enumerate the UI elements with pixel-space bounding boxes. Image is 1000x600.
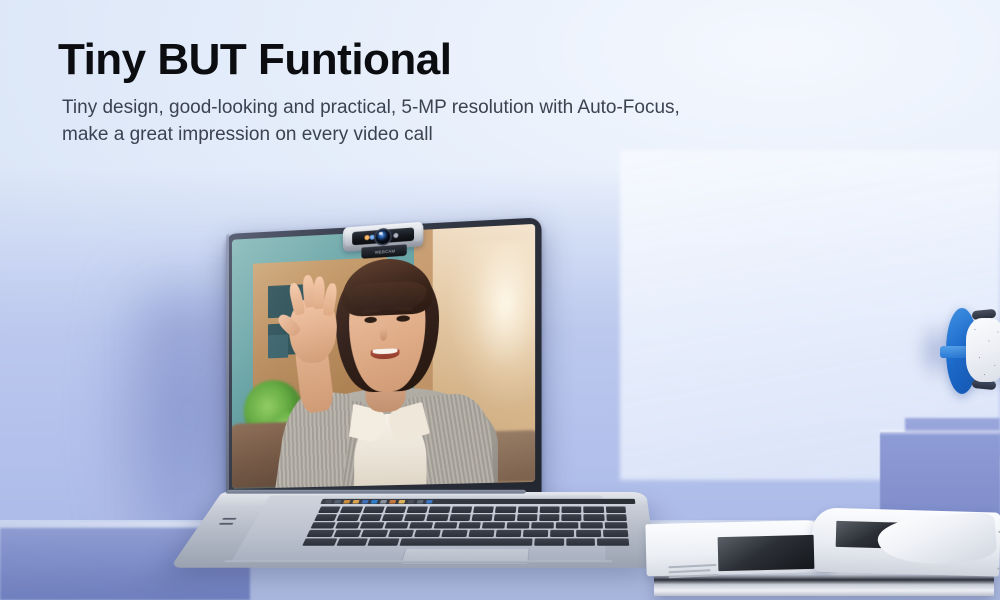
key[interactable] <box>359 514 382 521</box>
touch-bar-item[interactable] <box>407 500 414 503</box>
shelf-highlight <box>880 430 1000 434</box>
key[interactable] <box>562 506 582 512</box>
key[interactable] <box>531 522 554 529</box>
eye-right <box>397 315 410 322</box>
key-row <box>310 522 627 529</box>
base-front-lip <box>223 560 613 563</box>
key[interactable] <box>384 522 409 529</box>
key[interactable] <box>603 530 628 537</box>
text-block: Tiny BUT Funtional Tiny design, good-loo… <box>58 38 938 149</box>
key[interactable] <box>340 506 363 512</box>
key[interactable] <box>368 538 399 545</box>
text-line <box>669 569 711 573</box>
key-row <box>318 506 626 512</box>
key[interactable] <box>336 538 368 545</box>
wall-mounted-speaker <box>940 308 1000 394</box>
key-row <box>314 514 627 521</box>
lid-edge-highlight <box>226 234 229 506</box>
touch-bar-item[interactable] <box>417 500 424 503</box>
touch-bar-item[interactable] <box>334 500 342 503</box>
subtitle-line-1: Tiny design, good-looking and practical,… <box>62 97 680 118</box>
key[interactable] <box>581 522 604 529</box>
touch-bar-item[interactable] <box>361 500 369 503</box>
touch-bar-item[interactable] <box>325 500 333 503</box>
laptop-base <box>170 492 657 568</box>
key[interactable] <box>399 538 533 545</box>
video-call-person <box>232 224 535 489</box>
key[interactable] <box>539 514 560 521</box>
key[interactable] <box>584 506 604 512</box>
key[interactable] <box>507 522 530 529</box>
port <box>219 523 234 525</box>
key[interactable] <box>360 530 387 537</box>
key[interactable] <box>302 538 337 545</box>
key[interactable] <box>384 506 406 512</box>
key[interactable] <box>482 522 505 529</box>
key[interactable] <box>550 530 575 537</box>
key[interactable] <box>556 522 578 529</box>
touch-bar-item[interactable] <box>398 500 405 503</box>
touch-bar-item[interactable] <box>343 500 351 503</box>
key[interactable] <box>441 530 467 537</box>
key[interactable] <box>561 514 581 521</box>
laptop-lid: MacBook Pro WEBCAM <box>226 217 542 506</box>
key[interactable] <box>597 538 629 545</box>
key[interactable] <box>605 522 628 529</box>
key[interactable] <box>495 530 521 537</box>
scene-root: Tiny BUT Funtional Tiny design, good-loo… <box>0 0 1000 600</box>
touch-bar-item[interactable] <box>426 500 433 503</box>
speaker-body <box>966 318 1000 382</box>
macbook-pro-laptop: MacBook Pro WEBCAM <box>224 206 644 600</box>
key[interactable] <box>404 514 426 521</box>
page-subtitle: Tiny design, good-looking and practical,… <box>62 95 862 149</box>
touch-bar-item[interactable] <box>389 500 396 503</box>
touch-bar-item[interactable] <box>352 500 360 503</box>
key[interactable] <box>318 506 341 512</box>
key[interactable] <box>473 506 494 512</box>
key[interactable] <box>382 514 404 521</box>
key[interactable] <box>468 530 494 537</box>
keyboard-deck <box>231 495 606 562</box>
touch-bar-item[interactable] <box>380 500 387 503</box>
key[interactable] <box>414 530 441 537</box>
laptop-hinge <box>225 490 526 494</box>
key[interactable] <box>458 522 482 529</box>
key[interactable] <box>472 514 493 521</box>
key[interactable] <box>387 530 414 537</box>
speaker-mount-tab <box>940 346 968 358</box>
key[interactable] <box>337 514 360 521</box>
key[interactable] <box>577 530 602 537</box>
key[interactable] <box>409 522 433 529</box>
key[interactable] <box>310 522 335 529</box>
key[interactable] <box>314 514 337 521</box>
clip-on-webcam[interactable]: WEBCAM <box>343 222 423 262</box>
key-row <box>306 530 628 537</box>
page-title: Tiny BUT Funtional <box>58 38 938 82</box>
key[interactable] <box>362 506 384 512</box>
key[interactable] <box>306 530 334 537</box>
key[interactable] <box>517 506 538 512</box>
key[interactable] <box>429 506 451 512</box>
key[interactable] <box>427 514 449 521</box>
key[interactable] <box>517 514 538 521</box>
webcam-side-left <box>345 231 352 247</box>
keyboard[interactable] <box>302 506 629 545</box>
key[interactable] <box>584 514 604 521</box>
open-book <box>640 498 1000 600</box>
usb-c-ports <box>216 518 238 529</box>
key[interactable] <box>433 522 457 529</box>
key[interactable] <box>540 506 560 512</box>
key[interactable] <box>333 530 361 537</box>
touch-bar[interactable] <box>320 499 635 504</box>
laptop-screen <box>232 224 535 489</box>
key[interactable] <box>449 514 471 521</box>
touch-bar-item[interactable] <box>371 500 378 503</box>
key[interactable] <box>451 506 472 512</box>
subtitle-line-2: make a great impression on every video c… <box>62 122 862 149</box>
key[interactable] <box>495 506 516 512</box>
key[interactable] <box>494 514 515 521</box>
video-call-screen <box>232 224 535 489</box>
key[interactable] <box>606 506 626 512</box>
webcam-side-right <box>414 226 421 242</box>
key[interactable] <box>535 538 564 545</box>
key[interactable] <box>335 522 360 529</box>
key[interactable] <box>566 538 595 545</box>
text-line <box>668 564 716 568</box>
key-row <box>302 538 629 545</box>
key[interactable] <box>606 514 627 521</box>
book-photo <box>718 535 815 571</box>
key[interactable] <box>407 506 429 512</box>
key[interactable] <box>522 530 547 537</box>
key[interactable] <box>359 522 384 529</box>
port <box>222 518 237 520</box>
